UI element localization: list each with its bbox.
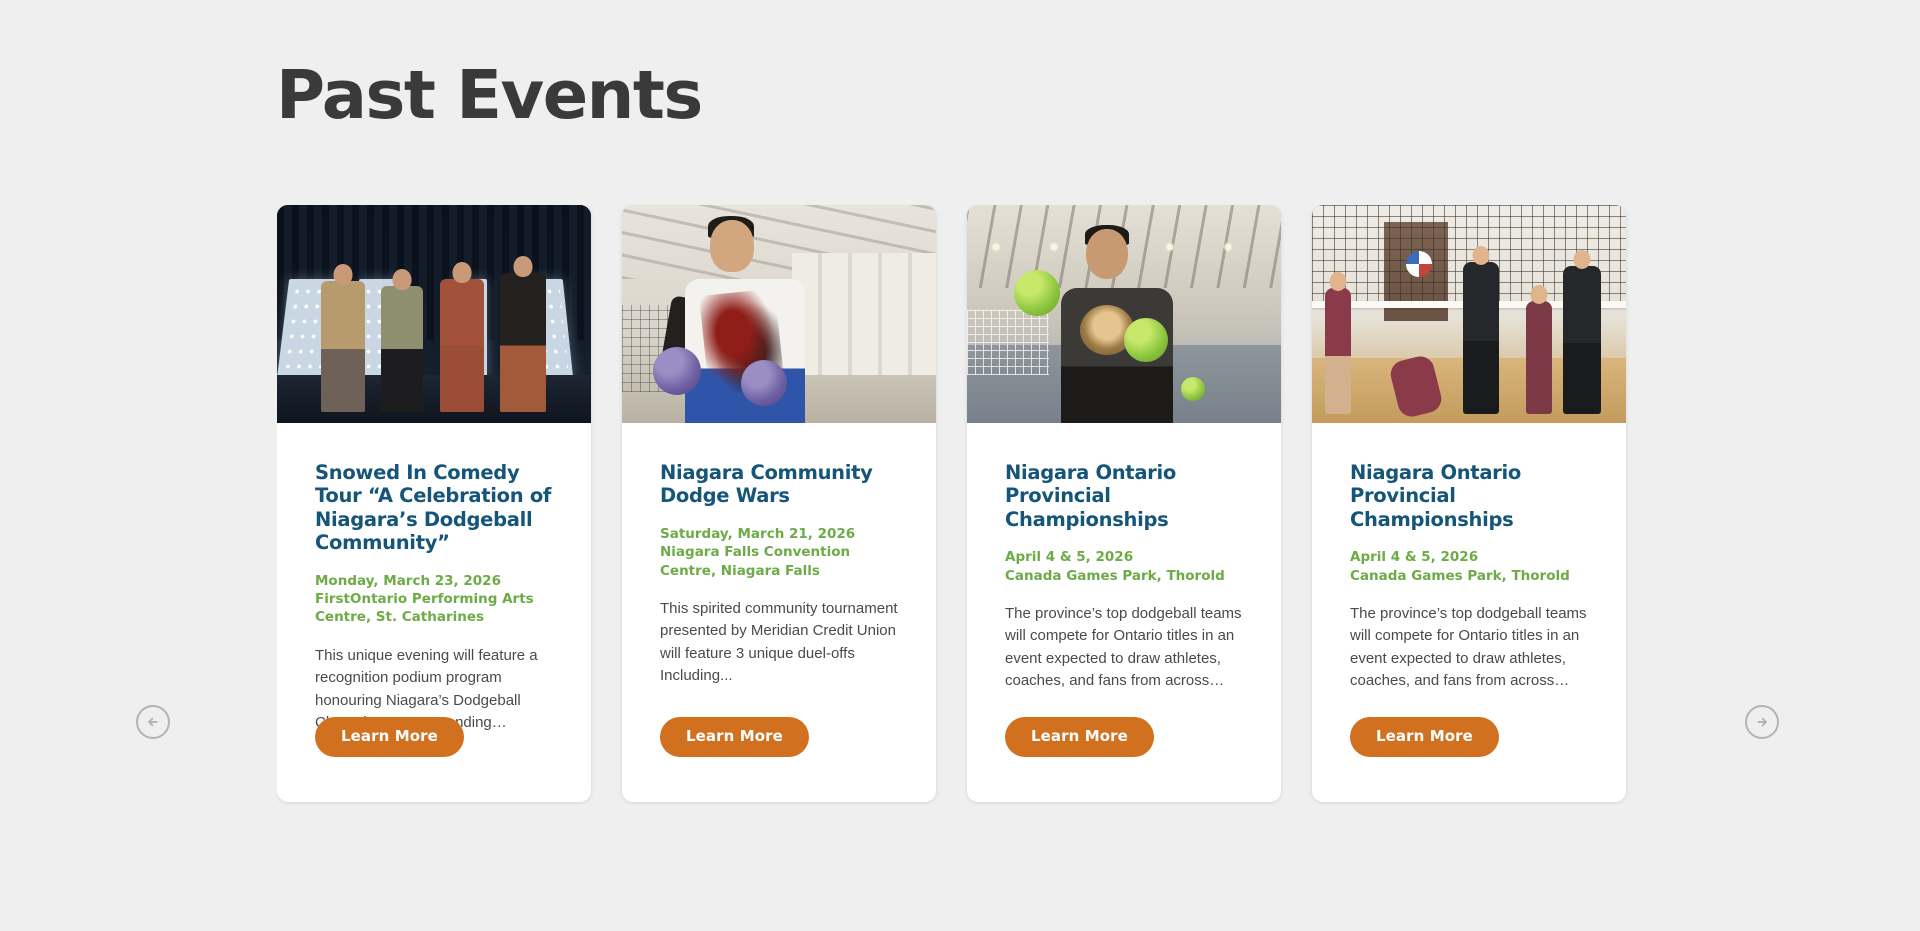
carousel-prev-button[interactable] [136,705,170,739]
learn-more-button[interactable]: Learn More [1350,717,1499,757]
event-card-image [622,205,936,423]
event-card-title: Niagara Ontario Provincial Championships [1005,461,1243,531]
event-card[interactable]: Niagara Ontario Provincial Championships… [967,205,1281,802]
event-card-date: Monday, March 23, 2026 [315,572,553,590]
event-card-image [277,205,591,423]
event-card-meta: April 4 & 5, 2026 Canada Games Park, Tho… [1005,548,1243,585]
event-card-title: Snowed In Comedy Tour “A Celebration of … [315,461,553,555]
event-card[interactable]: Snowed In Comedy Tour “A Celebration of … [277,205,591,802]
event-card-title: Niagara Community Dodge Wars [660,461,898,508]
event-card-venue: Canada Games Park, Thorold [1350,567,1588,585]
event-card-description: This spirited community tournament prese… [660,598,898,688]
arrow-right-circle-icon [1753,713,1771,731]
event-card-venue: Niagara Falls Convention Centre, Niagara… [660,543,898,580]
event-card-image [967,205,1281,423]
event-card-meta: Saturday, March 21, 2026 Niagara Falls C… [660,525,898,580]
past-events-carousel: Snowed In Comedy Tour “A Celebration of … [0,205,1920,815]
carousel-track[interactable]: Snowed In Comedy Tour “A Celebration of … [277,205,1632,805]
event-card-meta: April 4 & 5, 2026 Canada Games Park, Tho… [1350,548,1588,585]
learn-more-button[interactable]: Learn More [315,717,464,757]
event-card-meta: Monday, March 23, 2026 FirstOntario Perf… [315,572,553,627]
page-title: Past Events [276,60,702,130]
learn-more-button[interactable]: Learn More [660,717,809,757]
event-card-venue: Canada Games Park, Thorold [1005,567,1243,585]
event-card-date: Saturday, March 21, 2026 [660,525,898,543]
event-card-date: April 4 & 5, 2026 [1350,548,1588,566]
event-card[interactable]: Niagara Ontario Provincial Championships… [1312,205,1626,802]
carousel-next-button[interactable] [1745,705,1779,739]
arrow-left-circle-icon [144,713,162,731]
event-card[interactable]: Niagara Community Dodge Wars Saturday, M… [622,205,936,802]
event-card-title: Niagara Ontario Provincial Championships [1350,461,1588,531]
learn-more-button[interactable]: Learn More [1005,717,1154,757]
event-card-image [1312,205,1626,423]
event-card-venue: FirstOntario Performing Arts Centre, St.… [315,590,553,627]
event-card-description: The province’s top dodgeball teams will … [1350,603,1588,693]
event-card-date: April 4 & 5, 2026 [1005,548,1243,566]
event-card-description: The province’s top dodgeball teams will … [1005,603,1243,693]
